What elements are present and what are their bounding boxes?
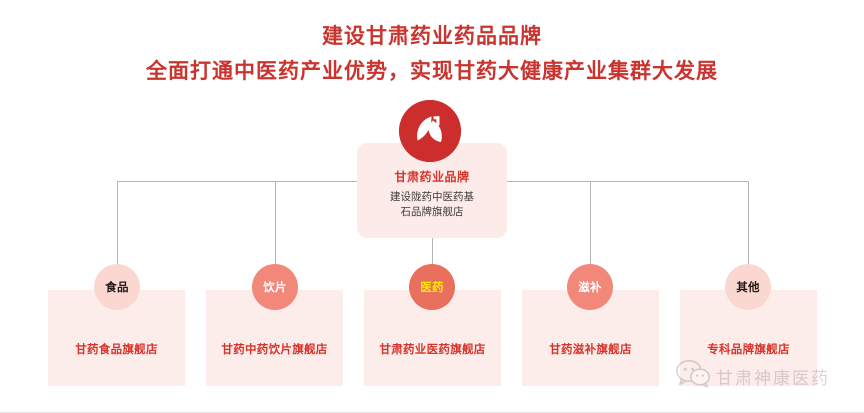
category-box-label-3: 甘肃药业医药旗舰店 bbox=[364, 341, 501, 357]
category-box-label-4: 甘药滋补旗舰店 bbox=[522, 341, 659, 357]
category-box-label-2: 甘药中药饮片旗舰店 bbox=[206, 341, 343, 357]
category-circle-label-1: 食品 bbox=[105, 279, 129, 295]
page-title-primary: 建设甘肃药业药品品牌 bbox=[0, 22, 864, 52]
category-circle-zibu[interactable]: 滋补 bbox=[567, 264, 613, 310]
category-circle-label-5: 其他 bbox=[736, 279, 760, 295]
category-circle-qita[interactable]: 其他 bbox=[725, 264, 771, 310]
category-circle-label-4: 滋补 bbox=[578, 279, 602, 295]
category-circle-shipin[interactable]: 食品 bbox=[94, 264, 140, 310]
watermark: 甘肃神康医药 bbox=[676, 360, 830, 393]
category-circle-yiyao[interactable]: 医药 bbox=[409, 264, 455, 310]
central-brand-subtitle-line2: 石品牌旗舰店 bbox=[379, 205, 485, 220]
central-brand-title: 甘肃药业品牌 bbox=[357, 169, 507, 185]
category-box-label-5: 专科品牌旗舰店 bbox=[680, 341, 817, 357]
central-brand-subtitle-line1: 建设陇药中医药基 bbox=[379, 190, 485, 205]
page-title-secondary: 全面打通中医药产业优势，实现甘药大健康产业集群大发展 bbox=[0, 56, 864, 88]
watermark-text: 甘肃神康医药 bbox=[716, 364, 830, 389]
page-header: 建设甘肃药业药品品牌 全面打通中医药产业优势，实现甘药大健康产业集群大发展 bbox=[0, 0, 864, 88]
category-circle-label-3: 医药 bbox=[420, 279, 444, 295]
leaf-circle-logo-icon bbox=[399, 100, 461, 162]
category-box-label-1: 甘药食品旗舰店 bbox=[48, 341, 185, 357]
central-brand-subtitle: 建设陇药中医药基 石品牌旗舰店 bbox=[357, 190, 507, 220]
wechat-icon bbox=[676, 360, 710, 393]
category-circle-label-2: 饮片 bbox=[263, 279, 287, 295]
category-circle-yinpian[interactable]: 饮片 bbox=[252, 264, 298, 310]
